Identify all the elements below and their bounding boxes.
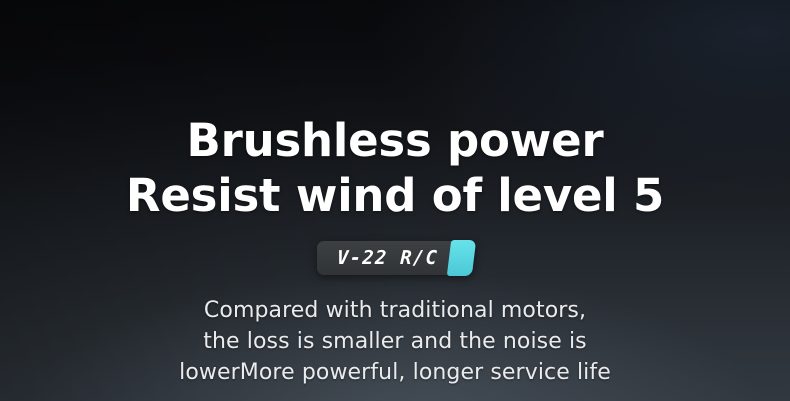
description-line-2: the loss is smaller and the noise is [179,326,611,357]
headline: Brushless power Resist wind of level 5 [126,113,664,223]
headline-line-1: Brushless power [126,113,664,168]
description: Compared with traditional motors, the lo… [179,295,611,388]
product-model-badge: V-22 R/C [317,241,472,275]
badge-label: V-22 R/C [337,249,439,268]
banner-content: Brushless power Resist wind of level 5 V… [0,0,790,401]
badge-accent-shape [446,240,475,276]
badge-pill: V-22 R/C [317,241,472,275]
headline-line-2: Resist wind of level 5 [126,168,664,223]
product-hero-banner: Brushless power Resist wind of level 5 V… [0,0,790,401]
description-line-1: Compared with traditional motors, [179,295,611,326]
description-line-3: lowerMore powerful, longer service life [179,357,611,388]
